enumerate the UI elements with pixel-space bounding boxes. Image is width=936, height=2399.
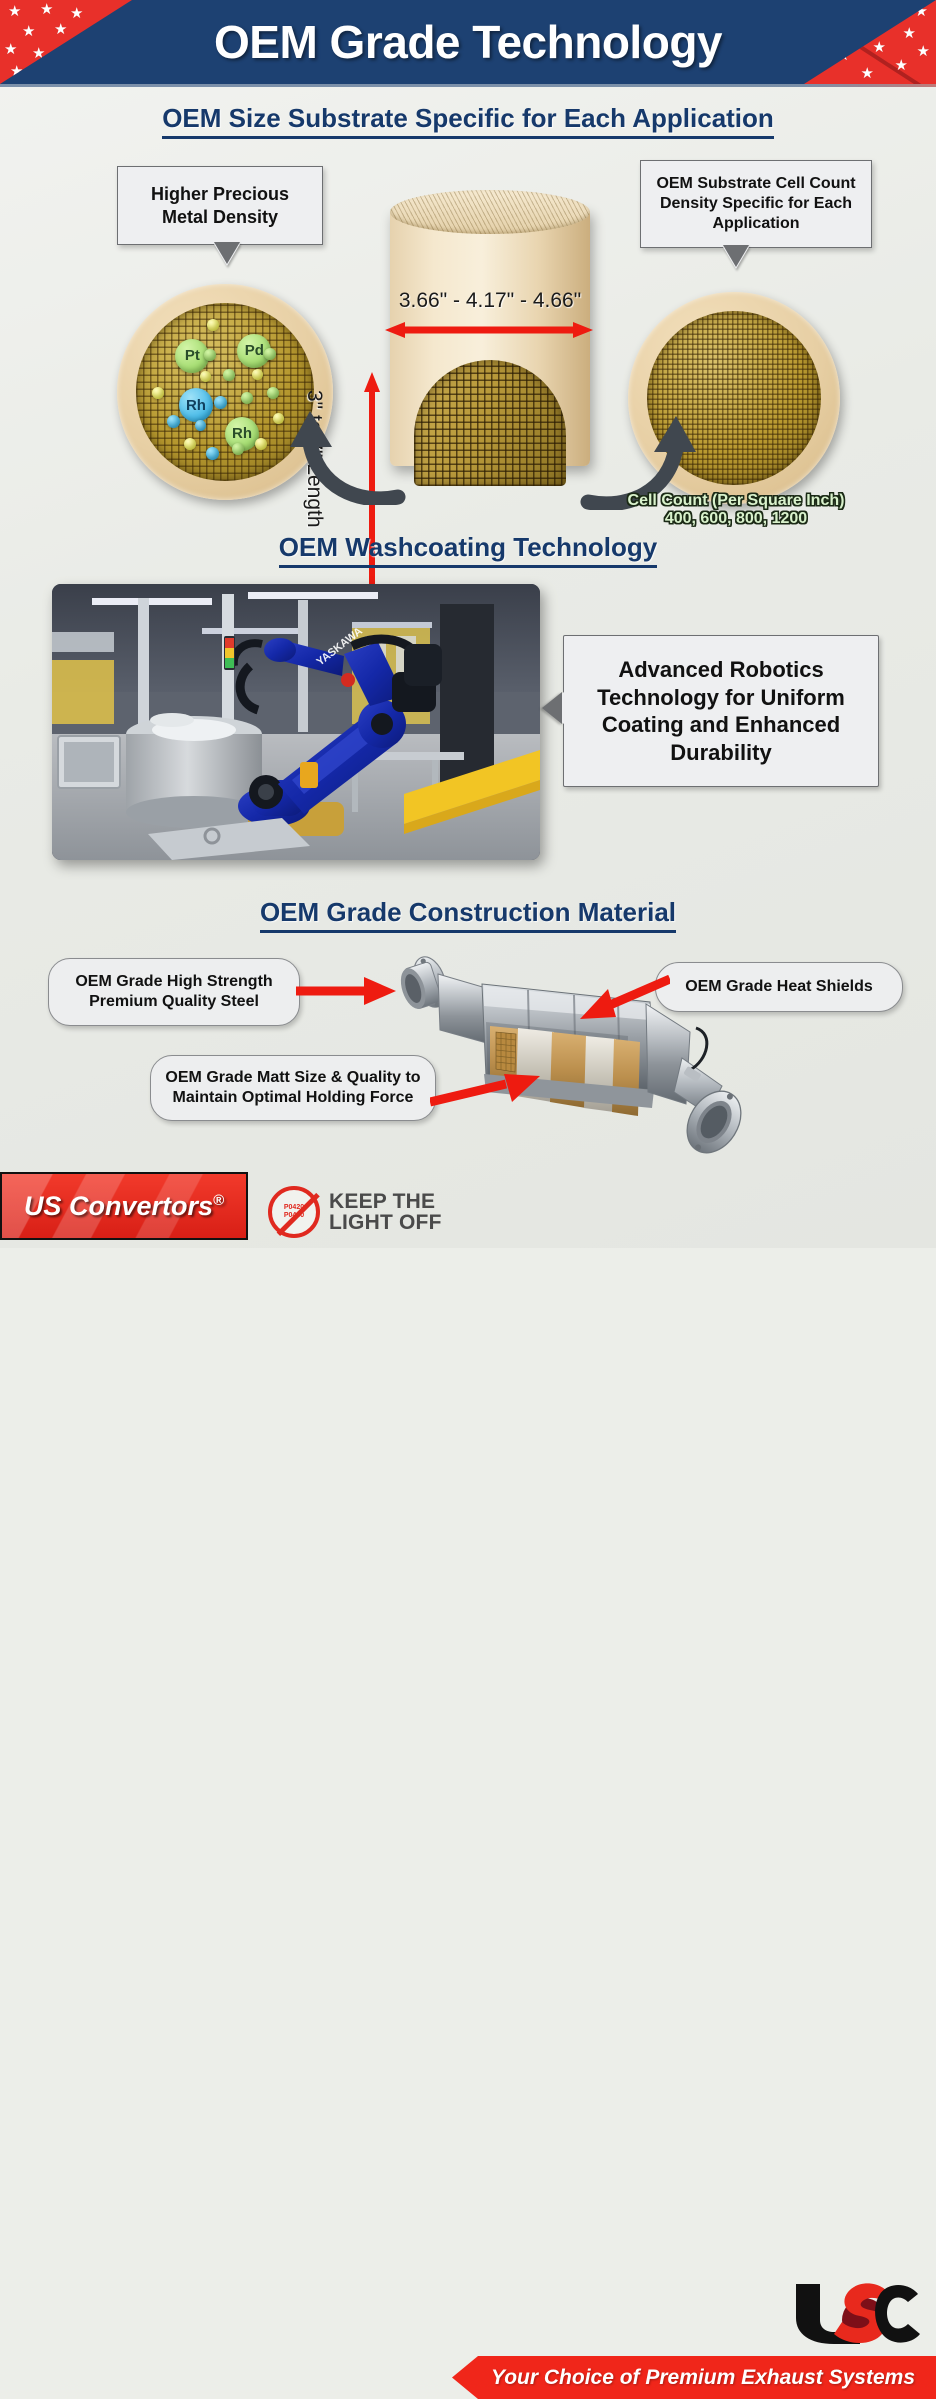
registered-mark: ® bbox=[213, 1192, 224, 1209]
robotics-factory-illustration: YASKAWA bbox=[52, 584, 540, 860]
metal-particle-small bbox=[223, 369, 235, 381]
keep-light-line1: KEEP THE bbox=[329, 1191, 442, 1212]
honeycomb-cells: Pt Pd Rh Rh bbox=[136, 303, 313, 480]
section-heading-construction: OEM Grade Construction Material bbox=[0, 897, 936, 928]
metal-particle-small bbox=[152, 387, 164, 399]
callout-tail-icon bbox=[544, 692, 564, 724]
callout-cell-count-density-label: OEM Substrate Cell Count Density Specifi… bbox=[656, 175, 855, 232]
callout-matt-size-label: OEM Grade Matt Size & Quality to Maintai… bbox=[165, 1069, 420, 1106]
metal-particle-small bbox=[241, 392, 253, 404]
metal-particle-small bbox=[252, 369, 263, 380]
metal-particle-small bbox=[207, 319, 219, 331]
callout-heat-shields: OEM Grade Heat Shields bbox=[655, 962, 903, 1012]
section-heading-construction-label: OEM Grade Construction Material bbox=[260, 897, 676, 933]
callout-advanced-robotics: Advanced Robotics Technology for Uniform… bbox=[563, 635, 879, 787]
metal-particle-small bbox=[214, 396, 227, 409]
callout-premium-steel: OEM Grade High Strength Premium Quality … bbox=[48, 958, 300, 1026]
no-dtc-icon: P0420 P0430 bbox=[268, 1186, 320, 1238]
substrate-cylinder bbox=[390, 190, 600, 490]
washcoating-photo: YASKAWA bbox=[52, 584, 540, 860]
arrow-to-steel-icon bbox=[296, 975, 396, 1007]
diameter-label: 3.66" - 4.17" - 4.66" bbox=[360, 289, 620, 313]
cell-count-title: Cell Count (Per Square Inch) bbox=[608, 492, 864, 510]
metal-particle-small bbox=[200, 371, 211, 382]
page-header: ★ ★ ★ ★ ★ ★ ★ ★ ★ ★ ★ ★ ★ ★ ★ ★ ★ ★ OEM … bbox=[0, 0, 936, 84]
keep-light-line2: LIGHT OFF bbox=[329, 1212, 442, 1233]
arrow-to-heat-shield-icon bbox=[580, 975, 670, 1021]
callout-cell-count-density: OEM Substrate Cell Count Density Specifi… bbox=[640, 160, 872, 248]
keep-light-off-text: KEEP THE LIGHT OFF bbox=[329, 1191, 442, 1234]
page-title: OEM Grade Technology bbox=[0, 0, 936, 84]
metal-particle-small bbox=[255, 438, 267, 450]
cylinder-top-face bbox=[390, 190, 590, 234]
metal-particle-small bbox=[195, 420, 206, 431]
callout-tail-icon bbox=[723, 247, 749, 269]
substrate-section: Higher Precious Metal Density OEM Substr… bbox=[0, 140, 936, 510]
section-heading-substrate: OEM Size Substrate Specific for Each App… bbox=[0, 103, 936, 134]
us-convertors-logo: US Convertors® bbox=[0, 1172, 248, 1240]
metal-particle-small bbox=[267, 387, 279, 399]
cell-count-overlay: Cell Count (Per Square Inch) 400, 600, 8… bbox=[608, 492, 864, 529]
us-convertors-logo-text: US Convertors® bbox=[24, 1191, 224, 1222]
infographic-page: ★ ★ ★ ★ ★ ★ ★ ★ ★ ★ ★ ★ ★ ★ ★ ★ ★ ★ OEM … bbox=[0, 0, 936, 1248]
callout-precious-metal-density-label: Higher Precious Metal Density bbox=[151, 184, 289, 227]
metal-particle-small bbox=[167, 415, 180, 428]
brand-name: US Convertors bbox=[24, 1191, 213, 1221]
callout-premium-steel-label: OEM Grade High Strength Premium Quality … bbox=[75, 973, 272, 1010]
section-heading-substrate-label: OEM Size Substrate Specific for Each App… bbox=[162, 103, 774, 139]
callout-tail-icon bbox=[214, 244, 240, 266]
metal-particle-small bbox=[264, 348, 276, 360]
section-heading-washcoating: OEM Washcoating Technology bbox=[0, 532, 936, 563]
tagline-text: Your Choice of Premium Exhaust Systems bbox=[473, 2366, 915, 2390]
tagline-banner: Your Choice of Premium Exhaust Systems bbox=[452, 2356, 936, 2399]
metal-particle-small bbox=[184, 438, 196, 450]
metal-particle-small bbox=[206, 447, 219, 460]
header-divider bbox=[0, 84, 936, 87]
cell-count-values: 400, 600, 800, 1200 bbox=[608, 510, 864, 528]
diameter-arrow-icon bbox=[385, 322, 593, 338]
usc-logo-icon bbox=[790, 2280, 922, 2346]
callout-advanced-robotics-label: Advanced Robotics Technology for Uniform… bbox=[597, 657, 845, 765]
callout-matt-size: OEM Grade Matt Size & Quality to Maintai… bbox=[150, 1055, 436, 1121]
page-footer: US Convertors® P0420 P0430 KEEP THE LIGH… bbox=[0, 1164, 936, 1248]
metal-particle-small bbox=[204, 349, 216, 361]
arrow-to-matt-icon bbox=[430, 1068, 540, 1110]
callout-precious-metal-density: Higher Precious Metal Density bbox=[117, 166, 323, 245]
metal-particle-small bbox=[232, 443, 244, 455]
keep-the-light-off-badge: P0420 P0430 KEEP THE LIGHT OFF bbox=[268, 1186, 442, 1238]
callout-heat-shields-label: OEM Grade Heat Shields bbox=[685, 978, 873, 995]
section-heading-washcoating-label: OEM Washcoating Technology bbox=[279, 532, 657, 568]
curved-arrow-left-icon bbox=[288, 405, 408, 505]
metal-particle-small bbox=[273, 413, 284, 424]
metal-particle-rh: Rh bbox=[179, 388, 213, 422]
